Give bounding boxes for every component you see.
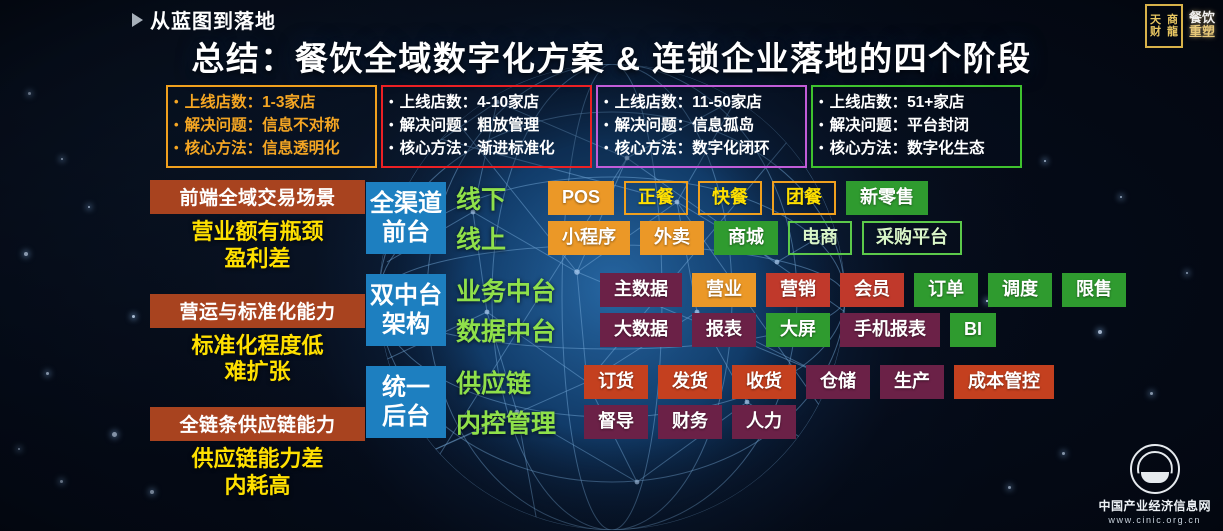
stage-item-text: 上线店数：1-3家店 (185, 92, 316, 115)
stage-item: •解决问题：平台封闭 (819, 115, 1014, 138)
chip-pos[interactable]: POS (548, 181, 614, 215)
chip-tuancan[interactable]: 团餐 (772, 181, 836, 215)
row-body: 供应链 订货 发货 收货 仓储 生产 成本管控 内控管理 督导 财务 (456, 366, 1054, 438)
bullet-dot-icon: • (819, 92, 824, 112)
slide-canvas: 从蓝图到落地 总结：餐饮全域数字化方案 & 连锁企业落地的四个阶段 天 商 财 … (0, 0, 1223, 531)
chip-xianshou[interactable]: 限售 (1062, 273, 1126, 307)
stage-item-text: 解决问题：信息不对称 (185, 115, 340, 138)
section-kicker: 从蓝图到落地 (132, 5, 276, 34)
row-body: 业务中台 主数据 营业 营销 会员 订单 调度 限售 数据中台 大数据 (456, 274, 1126, 346)
chip-xiaochengxu[interactable]: 小程序 (548, 221, 630, 255)
row-tag-line-2: 前台 (382, 218, 430, 247)
chip-fahuo[interactable]: 发货 (658, 365, 722, 399)
bullet-dot-icon: • (174, 115, 179, 135)
row-tag-line-1: 统一 (382, 373, 430, 402)
chip-diaodu[interactable]: 调度 (988, 273, 1052, 307)
chip-daping[interactable]: 大屏 (766, 313, 830, 347)
subrow-label: 供应链 (456, 364, 574, 400)
stage-item: •核心方法：数字化生态 (819, 138, 1014, 161)
pain-point-block-1: 前端全域交易场景 营业额有瓶颈 盈利差 (150, 180, 365, 273)
chip-shengchan[interactable]: 生产 (880, 365, 944, 399)
chip-kuaican[interactable]: 快餐 (698, 181, 762, 215)
brand-line-2: 重塑 (1189, 26, 1215, 40)
footer-url: www.cinic.org.cn (1098, 515, 1211, 525)
stage-box-2: •上线店数：4-10家店 •解决问题：粗放管理 •核心方法：渐进标准化 (381, 85, 592, 168)
architecture-row-frontend: 全渠道 前台 线下 POS 正餐 快餐 团餐 新零售 线上 (366, 182, 1126, 254)
stage-item-text: 核心方法：信息透明化 (185, 138, 340, 161)
bullet-dot-icon: • (174, 138, 179, 158)
chip-bi[interactable]: BI (950, 313, 996, 347)
chip-group: 大数据 报表 大屏 手机报表 BI (600, 313, 996, 347)
stage-box-3: •上线店数：11-50家店 •解决问题：信息孤岛 •核心方法：数字化闭环 (596, 85, 807, 168)
subrow-internal-control: 内控管理 督导 财务 人力 (456, 406, 1054, 438)
chip-group: POS 正餐 快餐 团餐 新零售 (548, 181, 928, 215)
chip-xinlingshou[interactable]: 新零售 (846, 181, 928, 215)
subrow-label: 内控管理 (456, 404, 574, 440)
chip-dingdan[interactable]: 订单 (914, 273, 978, 307)
chip-dinghuo[interactable]: 订货 (584, 365, 648, 399)
stage-item: •上线店数：1-3家店 (174, 92, 369, 115)
chip-dashuju[interactable]: 大数据 (600, 313, 682, 347)
brand-line-1: 餐饮 (1189, 12, 1215, 26)
bullet-dot-icon: • (389, 92, 394, 112)
chip-zhengcan[interactable]: 正餐 (624, 181, 688, 215)
subrow-business-midplatform: 业务中台 主数据 营业 营销 会员 订单 调度 限售 (456, 274, 1126, 306)
stage-item-text: 核心方法：数字化生态 (830, 138, 985, 161)
row-tag-backend: 统一 后台 (366, 366, 446, 438)
play-triangle-icon (132, 13, 143, 27)
pain-point-block-3: 全链条供应链能力 供应链能力差 内耗高 (150, 407, 365, 500)
architecture-row-midplatform: 双中台 架构 业务中台 主数据 营业 营销 会员 订单 调度 限售 (366, 274, 1126, 346)
stage-box-4: •上线店数：51+家店 •解决问题：平台封闭 •核心方法：数字化生态 (811, 85, 1022, 168)
pain-point-line-1: 供应链能力差 (150, 446, 365, 473)
pain-point-line-2: 内耗高 (150, 473, 365, 500)
chip-group: 督导 财务 人力 (584, 405, 796, 439)
stage-item-text: 解决问题：平台封闭 (830, 115, 970, 138)
bullet-dot-icon: • (604, 115, 609, 135)
stage-item-text: 上线店数：4-10家店 (400, 92, 540, 115)
cinic-logo-icon (1130, 444, 1180, 494)
chip-dianshang[interactable]: 电商 (788, 221, 852, 255)
pain-point-line-1: 营业额有瓶颈 (150, 219, 365, 246)
bullet-dot-icon: • (604, 92, 609, 112)
subrow-label: 业务中台 (456, 272, 590, 308)
pain-point-block-2: 营运与标准化能力 标准化程度低 难扩张 (150, 294, 365, 387)
chip-baobiao[interactable]: 报表 (692, 313, 756, 347)
brand-logo-group: 天 商 财 龍 餐饮 重塑 (1145, 4, 1215, 48)
bullet-dot-icon: • (819, 115, 824, 135)
stage-item-text: 核心方法：数字化闭环 (615, 138, 770, 161)
pain-point-line-1: 标准化程度低 (150, 333, 365, 360)
chip-renli[interactable]: 人力 (732, 405, 796, 439)
stage-item-text: 上线店数：51+家店 (830, 92, 965, 115)
architecture-rows: 全渠道 前台 线下 POS 正餐 快餐 团餐 新零售 线上 (366, 182, 1126, 458)
chip-zhushuju[interactable]: 主数据 (600, 273, 682, 307)
stage-item: •核心方法：渐进标准化 (389, 138, 584, 161)
row-tag-line-2: 架构 (382, 310, 430, 339)
stage-item: •核心方法：数字化闭环 (604, 138, 799, 161)
pain-point-line-2: 难扩张 (150, 359, 365, 386)
chip-cangchu[interactable]: 仓储 (806, 365, 870, 399)
stage-item-text: 解决问题：粗放管理 (400, 115, 540, 138)
bullet-dot-icon: • (604, 138, 609, 158)
architecture-row-backend: 统一 后台 供应链 订货 发货 收货 仓储 生产 成本管控 内控管理 (366, 366, 1126, 438)
pain-point-body: 营业额有瓶颈 盈利差 (150, 219, 365, 273)
page-title: 总结：餐饮全域数字化方案 & 连锁企业落地的四个阶段 (0, 32, 1223, 80)
chip-dudao[interactable]: 督导 (584, 405, 648, 439)
calligraphy-logo-icon: 餐饮 重塑 (1189, 12, 1215, 39)
seal-logo-icon: 天 商 财 龍 (1145, 4, 1183, 48)
stage-item: •核心方法：信息透明化 (174, 138, 369, 161)
subrow-supply-chain: 供应链 订货 发货 收货 仓储 生产 成本管控 (456, 366, 1054, 398)
pain-point-heading: 前端全域交易场景 (150, 180, 365, 214)
stage-box-1: •上线店数：1-3家店 •解决问题：信息不对称 •核心方法：信息透明化 (166, 85, 377, 168)
chip-group: 订货 发货 收货 仓储 生产 成本管控 (584, 365, 1054, 399)
pain-point-body: 供应链能力差 内耗高 (150, 446, 365, 500)
bullet-dot-icon: • (174, 92, 179, 112)
chip-huiyuan[interactable]: 会员 (840, 273, 904, 307)
subrow-label: 线下 (456, 180, 538, 216)
chip-shangcheng[interactable]: 商城 (714, 221, 778, 255)
pain-point-heading: 营运与标准化能力 (150, 294, 365, 328)
footer-watermark: 中国产业经济信息网 www.cinic.org.cn (1098, 444, 1211, 525)
bullet-dot-icon: • (389, 138, 394, 158)
pain-point-body: 标准化程度低 难扩张 (150, 333, 365, 387)
subrow-label: 线上 (456, 220, 538, 256)
row-tag-line-2: 后台 (382, 402, 430, 431)
row-body: 线下 POS 正餐 快餐 团餐 新零售 线上 小程序 外卖 商城 (456, 182, 962, 254)
footer-org-name: 中国产业经济信息网 (1098, 497, 1211, 514)
stage-box-group: •上线店数：1-3家店 •解决问题：信息不对称 •核心方法：信息透明化 •上线店… (166, 85, 1022, 168)
seal-char-4: 龍 (1167, 26, 1178, 38)
stage-item: •解决问题：信息不对称 (174, 115, 369, 138)
pain-point-line-2: 盈利差 (150, 246, 365, 273)
row-tag-frontend: 全渠道 前台 (366, 182, 446, 254)
chip-chengbenguankong[interactable]: 成本管控 (954, 365, 1054, 399)
stage-item: •上线店数：11-50家店 (604, 92, 799, 115)
chip-shouhuo[interactable]: 收货 (732, 365, 796, 399)
chip-group: 主数据 营业 营销 会员 订单 调度 限售 (600, 273, 1126, 307)
row-tag-line-1: 全渠道 (370, 189, 442, 218)
bullet-dot-icon: • (819, 138, 824, 158)
chip-yingye[interactable]: 营业 (692, 273, 756, 307)
stage-item-text: 核心方法：渐进标准化 (400, 138, 555, 161)
row-tag-midplatform: 双中台 架构 (366, 274, 446, 346)
stage-item: •上线店数：4-10家店 (389, 92, 584, 115)
pain-point-heading: 全链条供应链能力 (150, 407, 365, 441)
bullet-dot-icon: • (389, 115, 394, 135)
chip-group: 小程序 外卖 商城 电商 采购平台 (548, 221, 962, 255)
seal-char-3: 财 (1150, 26, 1161, 38)
chip-waimai[interactable]: 外卖 (640, 221, 704, 255)
chip-caigoupingtai[interactable]: 采购平台 (862, 221, 962, 255)
subrow-offline: 线下 POS 正餐 快餐 团餐 新零售 (456, 182, 962, 214)
stage-item: •解决问题：粗放管理 (389, 115, 584, 138)
stage-item-text: 解决问题：信息孤岛 (615, 115, 755, 138)
subrow-online: 线上 小程序 外卖 商城 电商 采购平台 (456, 222, 962, 254)
chip-yingxiao[interactable]: 营销 (766, 273, 830, 307)
kicker-label: 从蓝图到落地 (150, 5, 276, 34)
stage-item: •解决问题：信息孤岛 (604, 115, 799, 138)
pain-point-column: 前端全域交易场景 营业额有瓶颈 盈利差 营运与标准化能力 标准化程度低 难扩张 … (150, 180, 365, 521)
subrow-data-midplatform: 数据中台 大数据 报表 大屏 手机报表 BI (456, 314, 1126, 346)
subrow-label: 数据中台 (456, 312, 590, 348)
chip-shoujibaobiao[interactable]: 手机报表 (840, 313, 940, 347)
stage-item-text: 上线店数：11-50家店 (615, 92, 762, 115)
row-tag-line-1: 双中台 (370, 281, 442, 310)
chip-caiwu[interactable]: 财务 (658, 405, 722, 439)
stage-item: •上线店数：51+家店 (819, 92, 1014, 115)
